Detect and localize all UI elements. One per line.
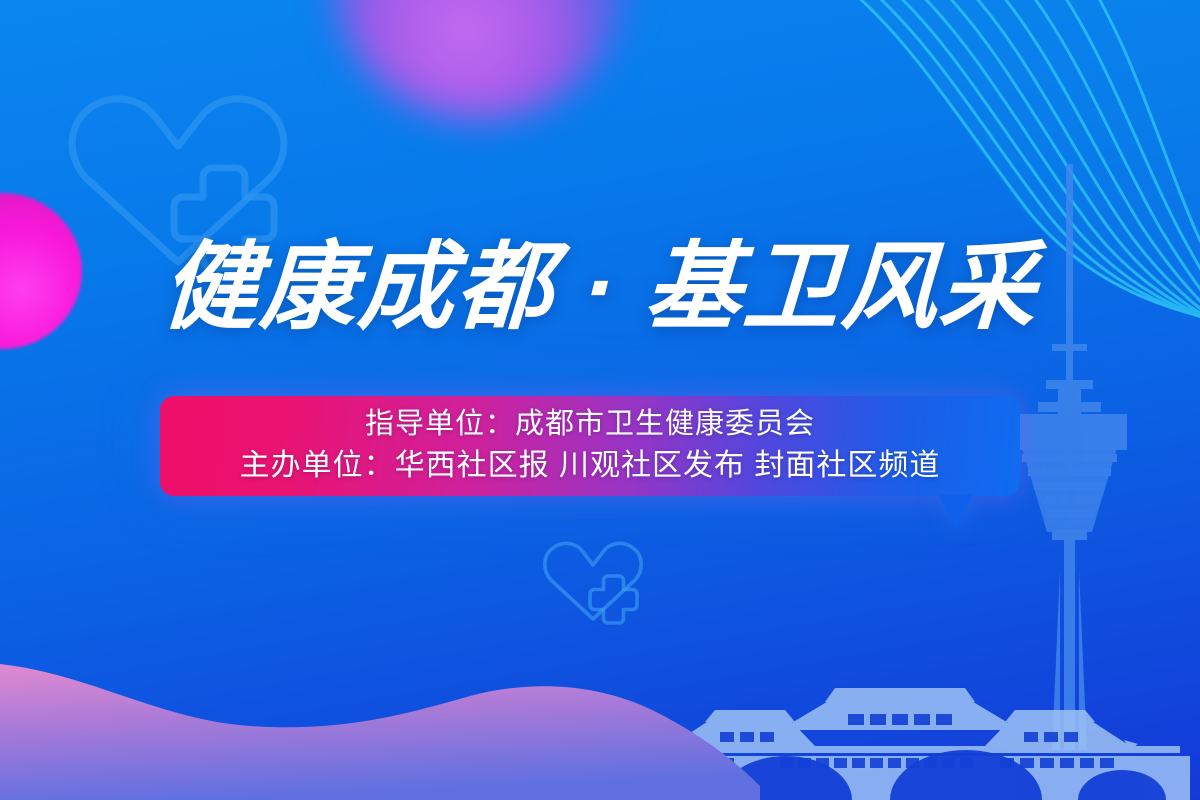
bottom-gradient-wave — [0, 610, 760, 800]
organizer-unit-line: 主办单位：华西社区报 川观社区发布 封面社区频道 — [240, 445, 941, 488]
speech-bubble-tail — [938, 494, 974, 528]
poster-canvas: 健康成都 · 基卫风采 指导单位：成都市卫生健康委员会 主办单位：华西社区报 川… — [0, 0, 1200, 800]
heart-with-medical-cross-icon — [540, 538, 648, 626]
organizer-banner: 指导单位：成都市卫生健康委员会 主办单位：华西社区报 川观社区发布 封面社区频道 — [160, 396, 1020, 496]
purple-gradient-blob — [330, 0, 630, 120]
anshun-bridge-silhouette — [600, 680, 1200, 800]
page-title: 健康成都 · 基卫风采 — [160, 238, 1041, 339]
guidance-unit-line: 指导单位：成都市卫生健康委员会 — [365, 404, 815, 445]
title-block: 健康成都 · 基卫风采 — [0, 238, 1200, 339]
